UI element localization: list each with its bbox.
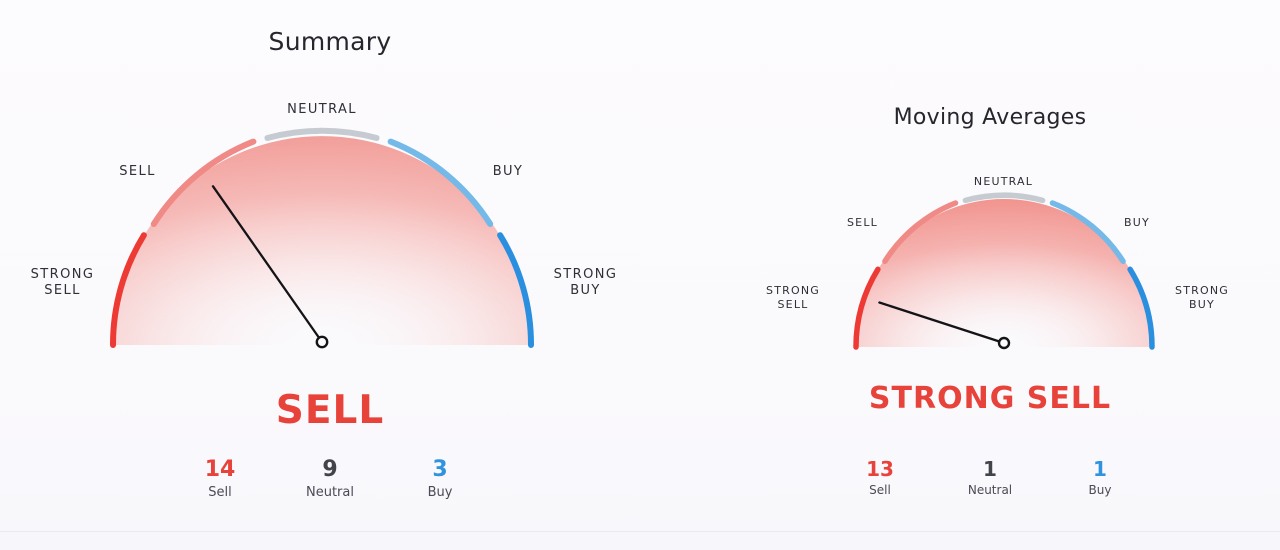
summary-gauge-panel: Summary — [0, 0, 660, 550]
summary-verdict: SELL — [0, 388, 660, 433]
moving-averages-count-buy: 1 Buy — [1045, 458, 1155, 497]
moving-averages-count-neutral-label: Neutral — [935, 484, 1045, 497]
summary-label-sell: SELL — [95, 164, 180, 180]
summary-count-sell-label: Sell — [165, 486, 275, 500]
moving-averages-label-sell: SELL — [825, 216, 900, 230]
summary-count-neutral-value: 9 — [275, 458, 385, 482]
moving-averages-count-buy-value: 1 — [1045, 458, 1155, 480]
summary-count-buy: 3 Buy — [385, 458, 495, 500]
moving-averages-counts: 13 Sell 1 Neutral 1 Buy — [700, 458, 1280, 497]
summary-label-buy: BUY — [468, 164, 548, 180]
gauges-canvas: Summary — [0, 0, 1280, 550]
moving-averages-count-sell-value: 13 — [825, 458, 935, 480]
summary-gauge-dial — [0, 0, 660, 400]
summary-label-strong-sell: STRONG SELL — [10, 267, 115, 300]
moving-averages-gauge-panel: Moving Averages STRONG SELL SE — [700, 0, 1280, 550]
moving-averages-label-strong-sell: STRONG SELL — [738, 284, 848, 312]
summary-counts: 14 Sell 9 Neutral 3 Buy — [0, 458, 660, 500]
summary-count-neutral: 9 Neutral — [275, 458, 385, 500]
moving-averages-label-neutral: NEUTRAL — [946, 175, 1061, 189]
summary-count-sell: 14 Sell — [165, 458, 275, 500]
bottom-strip — [0, 532, 1280, 550]
summary-count-sell-value: 14 — [165, 458, 275, 482]
summary-label-neutral: NEUTRAL — [257, 102, 387, 118]
summary-count-buy-label: Buy — [385, 486, 495, 500]
moving-averages-verdict: STRONG SELL — [700, 381, 1280, 416]
summary-count-buy-value: 3 — [385, 458, 495, 482]
moving-averages-needle-hub — [999, 338, 1009, 348]
summary-label-strong-buy: STRONG BUY — [533, 267, 638, 300]
summary-count-neutral-label: Neutral — [275, 486, 385, 500]
summary-needle-hub — [317, 337, 327, 347]
moving-averages-count-sell: 13 Sell — [825, 458, 935, 497]
moving-averages-label-buy: BUY — [1102, 216, 1172, 230]
moving-averages-gauge-dial — [700, 0, 1280, 400]
moving-averages-count-sell-label: Sell — [825, 484, 935, 497]
moving-averages-count-neutral-value: 1 — [935, 458, 1045, 480]
moving-averages-label-strong-buy: STRONG BUY — [1147, 284, 1257, 312]
moving-averages-count-buy-label: Buy — [1045, 484, 1155, 497]
moving-averages-count-neutral: 1 Neutral — [935, 458, 1045, 497]
